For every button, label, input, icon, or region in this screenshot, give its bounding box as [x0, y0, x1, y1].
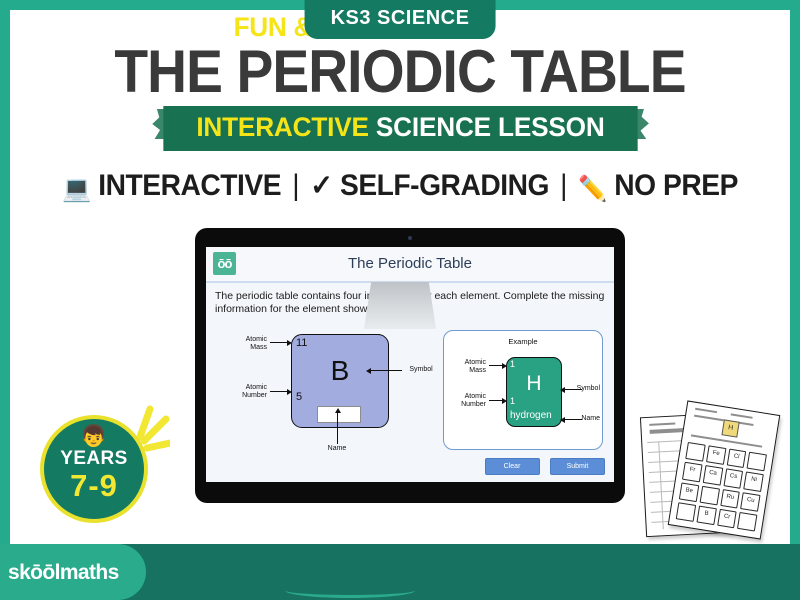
name-arrow: [337, 412, 338, 444]
check-icon: ✓: [310, 170, 332, 202]
ks3-tag: KS3 SCIENCE: [305, 0, 496, 39]
worksheet-cell-symbol: B: [698, 509, 714, 517]
worksheet-cell-symbol: Be: [681, 486, 697, 494]
worksheet-cell-symbol: [688, 446, 704, 448]
worksheet-cell-symbol: [679, 506, 695, 508]
example-name-label: Name: [564, 415, 600, 423]
worksheet-cell-symbol: Cl: [728, 453, 744, 461]
submit-button[interactable]: Submit: [550, 458, 605, 475]
worksheet-cell: Cu: [740, 492, 760, 512]
monitor-stand: [364, 282, 436, 329]
example-caption: Example: [444, 337, 602, 346]
worksheet-cell: [699, 485, 719, 505]
child-emoji-icon: 👦: [44, 425, 144, 448]
swoosh-underline: [285, 583, 415, 598]
skoolmaths-wordmark: skōōlmaths: [8, 561, 119, 585]
feature-separator-2: |: [560, 169, 567, 202]
years-badge-circle: 👦 YEARS 7-9: [40, 415, 148, 523]
lesson-title: The Periodic Table: [206, 247, 614, 281]
poster-canvas: THE PERIODIC TABLE INTERACTIVE SCIENCE L…: [10, 10, 790, 590]
symbol-arrow: [370, 370, 402, 371]
lesson-actions: Clear Submit: [479, 455, 605, 475]
worksheet-cell-symbol: Ni: [746, 476, 762, 484]
feature-no-prep: NO PREP: [614, 169, 738, 202]
years-label: YEARS: [44, 448, 144, 469]
worksheet-heading-line: [695, 408, 717, 413]
worksheet-cell: [737, 512, 757, 532]
feature-interactive: INTERACTIVE: [98, 169, 281, 202]
banner-rest: SCIENCE LESSON: [375, 112, 604, 142]
years-badge: 👦 YEARS 7-9: [32, 403, 172, 533]
banner-highlight: INTERACTIVE: [196, 112, 368, 142]
atomic-number-label: Atomic Number: [219, 384, 267, 400]
element-symbol: B: [292, 355, 388, 387]
years-range: 7-9: [44, 469, 144, 502]
worksheet-thumbnails: H Fe Cl Fr Ca Cs Ni Be Ru Cu B: [635, 403, 790, 548]
worksheet-cell: Fr: [682, 462, 702, 482]
worksheet-cell: Ca: [703, 465, 723, 485]
example-symbol: H: [507, 372, 561, 396]
worksheet-cell-symbol: [702, 489, 718, 491]
skoolmaths-logo-pill[interactable]: skōōlmaths: [0, 544, 146, 600]
element-atomic-number: 5: [296, 391, 302, 403]
example-atomic-number-label: Atomic Number: [445, 393, 486, 409]
worksheet-cell: Cr: [717, 509, 737, 529]
element-diagram: Atomic Mass Atomic Number 11 B 5 Symbol: [215, 320, 605, 460]
worksheet-cell-symbol: Ca: [705, 469, 721, 477]
webcam-dot: [408, 236, 412, 240]
pencil-icon: ✏️: [578, 175, 607, 203]
symbol-label: Symbol: [403, 366, 439, 374]
worksheet-cell-symbol: Fr: [684, 466, 700, 474]
worksheet-cell: Cl: [726, 449, 746, 469]
worksheet-cell: [685, 442, 705, 462]
worksheet-cell-symbol: [750, 456, 766, 458]
laptop-icon: 💻: [62, 175, 91, 203]
worksheet-heading-line: [731, 413, 753, 418]
worksheet-cell-symbol: [740, 516, 756, 518]
page-title: THE PERIODIC TABLE: [41, 40, 759, 104]
worksheet-cell-symbol: Ru: [722, 493, 738, 501]
feature-self-grading: SELF-GRADING: [340, 169, 549, 202]
worksheet-column-rule: [658, 441, 664, 529]
element-atomic-mass: 11: [296, 337, 307, 349]
worksheet-cell: B: [696, 505, 716, 525]
example-element-card: 1 H 1 hydrogen: [506, 357, 562, 427]
example-atomic-number: 1: [510, 396, 515, 406]
worksheet-cell-symbol: Cu: [743, 496, 759, 504]
skoolmaths-logo-icon: ōō: [213, 252, 236, 275]
atomic-number-arrow: [270, 391, 288, 392]
worksheet-cell-symbol: Cr: [719, 513, 735, 521]
clear-button[interactable]: Clear: [485, 458, 540, 475]
example-symbol-label: Symbol: [564, 385, 600, 393]
feature-separator-1: |: [292, 169, 299, 202]
element-name-label: Name: [319, 445, 355, 453]
example-atomic-mass-label: Atomic Mass: [448, 359, 486, 375]
worksheet-heading-line: [649, 422, 675, 425]
example-atomic-number-arrow: [489, 400, 503, 401]
worksheet-cell: Fe: [706, 445, 726, 465]
element-card: 11 B 5: [291, 334, 389, 428]
subtitle-banner: INTERACTIVE SCIENCE LESSON: [10, 106, 790, 151]
monitor-mockup: ōō The Periodic Table The periodic table…: [195, 228, 625, 503]
atomic-mass-arrow: [270, 342, 288, 343]
worksheet-hydrogen-chip: H: [721, 419, 739, 437]
worksheet-cell: [747, 452, 767, 472]
example-card: Example Atomic Mass Atomic Number 1 H 1 …: [443, 330, 603, 450]
lesson-header: ōō The Periodic Table: [206, 247, 614, 283]
worksheet-front: H Fe Cl Fr Ca Cs Ni Be Ru Cu B: [668, 400, 781, 539]
footer-tagline-rest: DIGITAL PRACTICE: [468, 12, 707, 42]
worksheet-cell: Cs: [723, 469, 743, 489]
poster-root: THE PERIODIC TABLE INTERACTIVE SCIENCE L…: [0, 0, 800, 600]
worksheet-cell: Ru: [720, 489, 740, 509]
example-atomic-mass-arrow: [489, 365, 503, 366]
atomic-mass-label: Atomic Mass: [223, 336, 267, 352]
worksheet-cell: Ni: [744, 472, 764, 492]
worksheet-cell: [676, 502, 696, 522]
worksheet-cell-symbol: Fe: [708, 449, 724, 457]
worksheet-element-grid: Fe Cl Fr Ca Cs Ni Be Ru Cu B Cr: [676, 442, 767, 532]
features-row: 💻 INTERACTIVE | ✓ SELF-GRADING | ✏️ NO P…: [33, 168, 766, 204]
example-atomic-mass: 1: [510, 359, 515, 369]
worksheet-cell: Be: [679, 482, 699, 502]
example-element-name: hydrogen: [510, 410, 552, 421]
worksheet-cell-symbol: Cs: [725, 473, 741, 481]
